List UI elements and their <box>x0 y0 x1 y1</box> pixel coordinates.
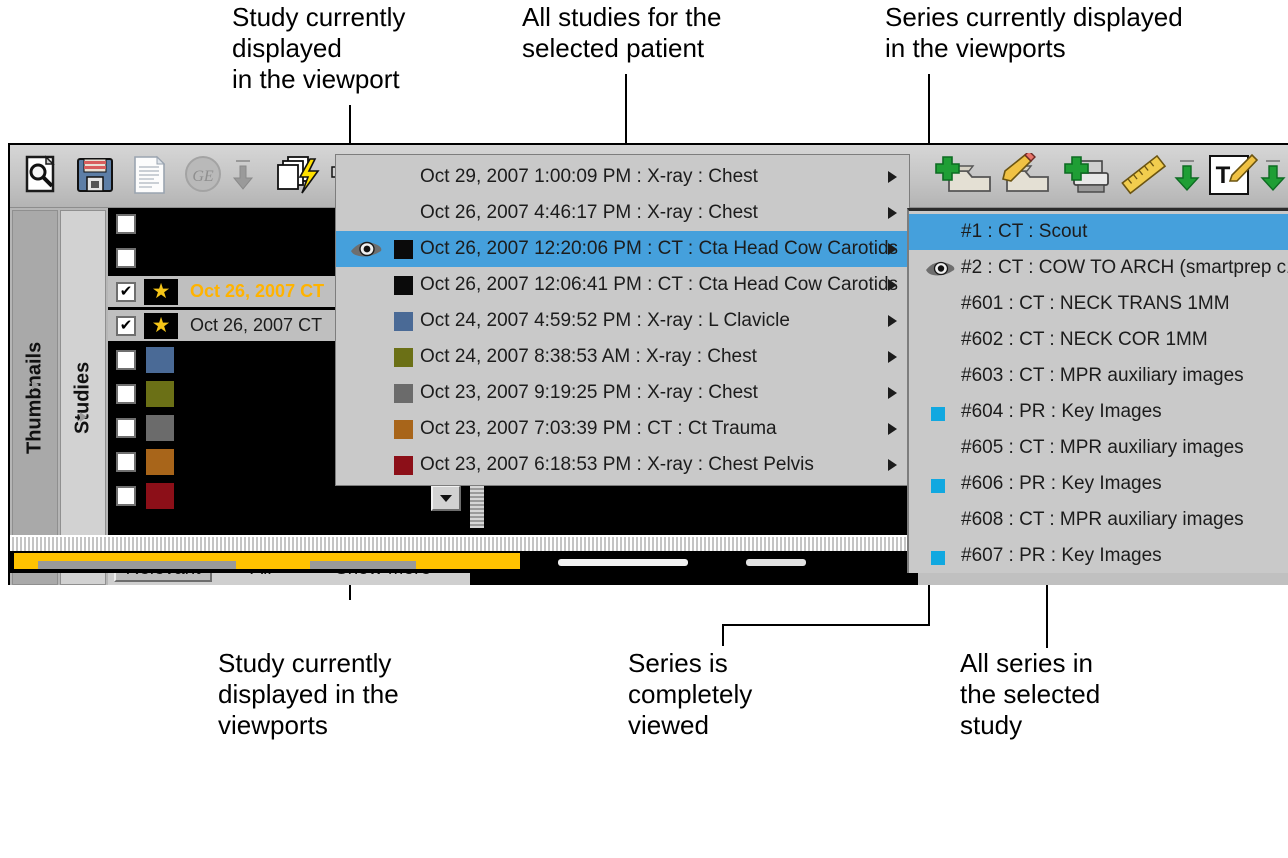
download-arrow-icon[interactable] <box>226 153 260 197</box>
svg-text:T: T <box>1216 162 1231 189</box>
series-list-panel[interactable]: #1 : CT : Scout #2 : CT : COW TO ARCH (s… <box>907 208 1288 573</box>
callout-top-left: Study currently displayed in the viewpor… <box>232 2 405 95</box>
study-menu-item-label: Oct 26, 2007 4:46:17 PM : X-ray : Chest <box>420 202 758 224</box>
studies-row-checkbox[interactable]: ✔ <box>116 316 136 336</box>
studies-row-label: Oct 26, 2007 CT <box>190 281 324 302</box>
study-menu-color-swatch <box>394 312 413 331</box>
series-item-2[interactable]: #601 : CT : NECK TRANS 1MM <box>909 286 1288 322</box>
ge-logo-icon: GE <box>180 153 226 197</box>
study-menu-color-swatch <box>394 348 413 367</box>
callout-bottom-left: Study currently displayed in the viewpor… <box>218 648 399 741</box>
edit-folder-icon[interactable] <box>995 153 1057 197</box>
studies-row-color-swatch <box>146 483 174 509</box>
study-menu-item-label: Oct 24, 2007 4:59:52 PM : X-ray : L Clav… <box>420 310 790 332</box>
svg-text:GE: GE <box>192 168 214 185</box>
thumbnail-item[interactable] <box>310 561 416 569</box>
study-menu-item-label: Oct 23, 2007 9:19:25 PM : X-ray : Chest <box>420 382 758 404</box>
studies-row-label: Oct 26, 2007 CT <box>190 315 322 336</box>
series-item-label: #604 : PR : Key Images <box>961 401 1162 423</box>
series-item-label: #602 : CT : NECK COR 1MM <box>961 329 1208 351</box>
series-item-label: #605 : CT : MPR auxiliary images <box>961 437 1244 459</box>
callout-bottom-mid: Series is completely viewed <box>628 648 752 741</box>
study-menu-item-label: Oct 24, 2007 8:38:53 AM : X-ray : Chest <box>420 346 757 368</box>
studies-row-checkbox[interactable] <box>116 248 136 268</box>
study-menu-item-6[interactable]: Oct 23, 2007 9:19:25 PM : X-ray : Chest <box>336 375 909 411</box>
callout-top-right: Series currently displayed in the viewpo… <box>885 2 1183 64</box>
study-menu-item-0[interactable]: Oct 29, 2007 1:00:09 PM : X-ray : Chest <box>336 159 909 195</box>
submenu-arrow-icon[interactable] <box>888 243 897 255</box>
leader-line-bottom-mid-h <box>722 624 930 626</box>
displayed-eye-icon <box>925 260 957 277</box>
studies-caret-icon <box>80 412 87 422</box>
study-menu-item-3[interactable]: Oct 26, 2007 12:06:41 PM : CT : Cta Head… <box>336 267 909 303</box>
series-item-1[interactable]: #2 : CT : COW TO ARCH (smartprep c1 <box>909 250 1288 286</box>
left-vertical-tabs: Thumbnails Studies <box>10 208 108 585</box>
study-menu-item-label: Oct 23, 2007 7:03:39 PM : CT : Ct Trauma <box>420 418 777 440</box>
add-folder-icon[interactable] <box>935 153 997 197</box>
studies-scroll-down-button[interactable] <box>431 485 461 511</box>
series-item-label: #603 : CT : MPR auxiliary images <box>961 365 1244 387</box>
series-item-3[interactable]: #602 : CT : NECK COR 1MM <box>909 322 1288 358</box>
series-item-8[interactable]: #608 : CT : MPR auxiliary images <box>909 502 1288 538</box>
studies-row-color-swatch <box>146 449 174 475</box>
favorite-star-icon[interactable]: ★ <box>144 313 178 339</box>
series-item-5[interactable]: #604 : PR : Key Images <box>909 394 1288 430</box>
study-menu-item-8[interactable]: Oct 23, 2007 6:18:53 PM : X-ray : Chest … <box>336 447 909 483</box>
studies-row-checkbox[interactable]: ✔ <box>116 282 136 302</box>
series-item-label: #601 : CT : NECK TRANS 1MM <box>961 293 1230 315</box>
study-menu-item-label: Oct 26, 2007 12:06:41 PM : CT : Cta Head… <box>420 274 898 296</box>
studies-row-checkbox[interactable] <box>116 384 136 404</box>
study-menu-color-swatch <box>394 240 413 259</box>
series-item-label: #1 : CT : Scout <box>961 221 1087 243</box>
bottom-hatched-divider <box>10 535 920 552</box>
leader-line-top-mid <box>625 74 627 146</box>
favorite-star-icon[interactable]: ★ <box>144 279 178 305</box>
submenu-arrow-icon[interactable] <box>888 279 897 291</box>
submenu-arrow-icon[interactable] <box>888 171 897 183</box>
application-screenshot: GE <box>8 143 1288 585</box>
key-images-marker-icon <box>931 479 945 493</box>
submenu-arrow-icon[interactable] <box>888 351 897 363</box>
series-item-6[interactable]: #605 : CT : MPR auxiliary images <box>909 430 1288 466</box>
studies-row-checkbox[interactable] <box>116 418 136 438</box>
studies-row-color-swatch <box>146 381 174 407</box>
download-green-icon[interactable] <box>1170 153 1204 197</box>
studies-row-checkbox[interactable] <box>116 214 136 234</box>
study-menu-item-label: Oct 26, 2007 12:20:06 PM : CT : Cta Head… <box>420 238 898 260</box>
thumbnails-caret-icon <box>32 380 39 390</box>
submenu-arrow-icon[interactable] <box>888 459 897 471</box>
text-annotation-icon[interactable]: T <box>1204 153 1260 197</box>
download-green-2-icon[interactable] <box>1256 153 1288 197</box>
thumbnail-item[interactable] <box>746 559 806 566</box>
study-menu-color-swatch <box>394 420 413 439</box>
displayed-eye-icon <box>350 240 384 258</box>
bottom-thumbnail-strip[interactable] <box>10 551 920 573</box>
series-item-label: #606 : PR : Key Images <box>961 473 1162 495</box>
study-dropdown-menu[interactable]: Oct 29, 2007 1:00:09 PM : X-ray : Chest … <box>335 154 910 486</box>
sidebar-tab-thumbnails-label: Thumbnails <box>24 341 47 453</box>
study-menu-color-swatch <box>394 276 413 295</box>
study-menu-item-7[interactable]: Oct 23, 2007 7:03:39 PM : CT : Ct Trauma <box>336 411 909 447</box>
thumbnail-item[interactable] <box>558 559 688 566</box>
submenu-arrow-icon[interactable] <box>888 207 897 219</box>
study-menu-item-4[interactable]: Oct 24, 2007 4:59:52 PM : X-ray : L Clav… <box>336 303 909 339</box>
study-menu-item-1[interactable]: Oct 26, 2007 4:46:17 PM : X-ray : Chest <box>336 195 909 231</box>
report-document-icon[interactable] <box>126 153 172 197</box>
studies-row-color-swatch <box>146 347 174 373</box>
sidebar-tab-studies[interactable]: Studies <box>60 210 106 585</box>
key-images-marker-icon <box>931 407 945 421</box>
copy-stack-bolt-icon[interactable] <box>272 153 328 197</box>
series-item-0[interactable]: #1 : CT : Scout <box>909 214 1288 250</box>
leader-line-bottom-mid-v2 <box>722 624 724 646</box>
study-menu-item-label: Oct 29, 2007 1:00:09 PM : X-ray : Chest <box>420 166 758 188</box>
study-menu-item-2[interactable]: Oct 26, 2007 12:20:06 PM : CT : Cta Head… <box>336 231 909 267</box>
series-item-label: #2 : CT : COW TO ARCH (smartprep c1 <box>961 257 1288 279</box>
callout-bottom-right: All series in the selected study <box>960 648 1100 741</box>
series-item-4[interactable]: #603 : CT : MPR auxiliary images <box>909 358 1288 394</box>
studies-row-checkbox[interactable] <box>116 452 136 472</box>
submenu-arrow-icon[interactable] <box>888 387 897 399</box>
thumbnail-item[interactable] <box>38 561 236 569</box>
key-images-marker-icon <box>931 551 945 565</box>
study-menu-color-swatch <box>394 456 413 475</box>
sidebar-tab-studies-label: Studies <box>72 361 95 433</box>
study-menu-item-label: Oct 23, 2007 6:18:53 PM : X-ray : Chest … <box>420 454 814 476</box>
submenu-arrow-icon[interactable] <box>888 423 897 435</box>
series-item-label: #608 : CT : MPR auxiliary images <box>961 509 1244 531</box>
series-item-9[interactable]: #607 : PR : Key Images <box>909 538 1288 574</box>
studies-row-color-swatch <box>146 415 174 441</box>
studies-row-checkbox[interactable] <box>116 486 136 506</box>
sidebar-tab-thumbnails[interactable]: Thumbnails <box>12 210 58 585</box>
add-printer-icon[interactable] <box>1060 153 1120 197</box>
studies-row-checkbox[interactable] <box>116 350 136 370</box>
study-menu-color-swatch <box>394 384 413 403</box>
study-menu-item-5[interactable]: Oct 24, 2007 8:38:53 AM : X-ray : Chest <box>336 339 909 375</box>
series-item-label: #607 : PR : Key Images <box>961 545 1162 567</box>
callout-top-mid: All studies for the selected patient <box>522 2 721 64</box>
query-document-icon[interactable] <box>18 153 64 197</box>
ruler-measure-icon[interactable] <box>1118 153 1170 197</box>
submenu-arrow-icon[interactable] <box>888 315 897 327</box>
chevron-down-icon <box>439 494 453 503</box>
series-item-7[interactable]: #606 : PR : Key Images <box>909 466 1288 502</box>
save-floppy-icon[interactable] <box>72 153 118 197</box>
